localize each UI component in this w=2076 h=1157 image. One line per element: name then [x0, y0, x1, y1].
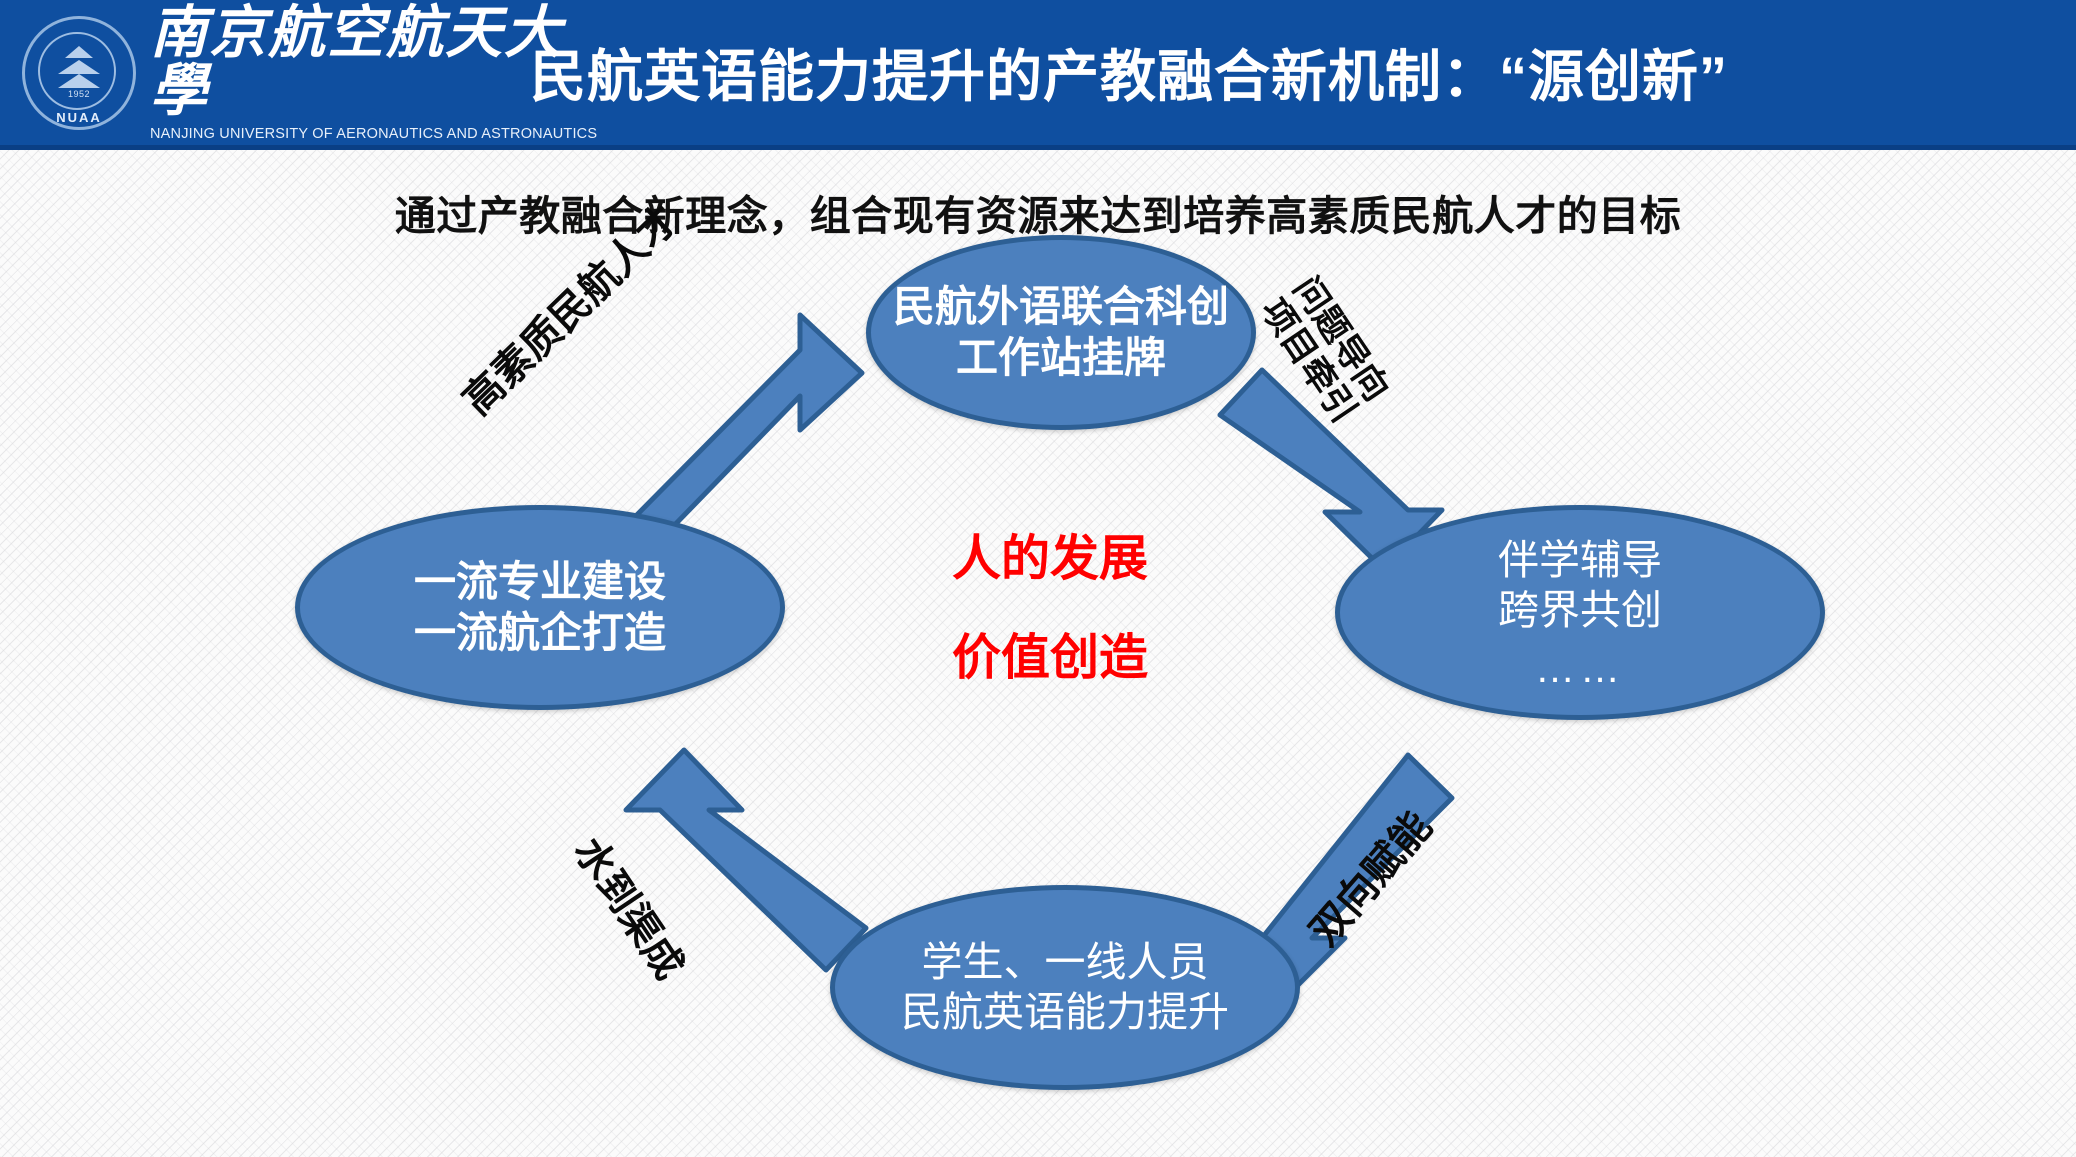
node-top[interactable]: 民航外语联合科创 工作站挂牌 — [866, 235, 1256, 430]
center-text-line1: 人的发展 — [880, 535, 1220, 584]
cycle-diagram: 民航外语联合科创 工作站挂牌 一流专业建设 一流航企打造 伴学辅导 跨界共创 …… — [0, 210, 2076, 1157]
node-left[interactable]: 一流专业建设 一流航企打造 — [295, 505, 785, 710]
header-accent-line — [0, 145, 2076, 150]
center-text-line2: 价值创造 — [880, 634, 1220, 683]
node-right[interactable]: 伴学辅导 跨界共创 …… — [1335, 505, 1825, 720]
node-bottom-line1: 学生、一线人员 — [922, 938, 1209, 987]
node-bottom-line2: 民航英语能力提升 — [901, 988, 1229, 1037]
node-top-line2: 工作站挂牌 — [956, 333, 1166, 383]
node-left-line2: 一流航企打造 — [414, 608, 666, 658]
seal-tree-bottom-icon — [58, 74, 100, 88]
university-logo: 1952 NUAA 南京航空航天大學 NANJING UNIVERSITY OF… — [22, 12, 522, 134]
seal-tree-mid-icon — [58, 60, 100, 74]
node-left-line1: 一流专业建设 — [414, 557, 666, 607]
node-right-line1: 伴学辅导 — [1498, 536, 1662, 585]
node-bottom[interactable]: 学生、一线人员 民航英语能力提升 — [830, 885, 1300, 1090]
seal-tree-top-icon — [65, 46, 93, 58]
seal-year-label: 1952 — [25, 89, 133, 99]
node-top-line1: 民航外语联合科创 — [893, 282, 1229, 332]
seal-abbreviation-label: NUAA — [25, 110, 133, 125]
arrow-left-to-top — [617, 315, 862, 540]
page-title: 民航英语能力提升的产教融合新机制：“源创新” — [530, 0, 2036, 145]
node-right-line3: …… — [1535, 649, 1625, 689]
slide-canvas: 1952 NUAA 南京航空航天大學 NANJING UNIVERSITY OF… — [0, 0, 2076, 1157]
center-highlight-text: 人的发展 价值创造 — [880, 535, 1220, 683]
university-seal-icon: 1952 NUAA — [22, 16, 136, 130]
node-right-line2: 跨界共创 — [1498, 586, 1662, 635]
